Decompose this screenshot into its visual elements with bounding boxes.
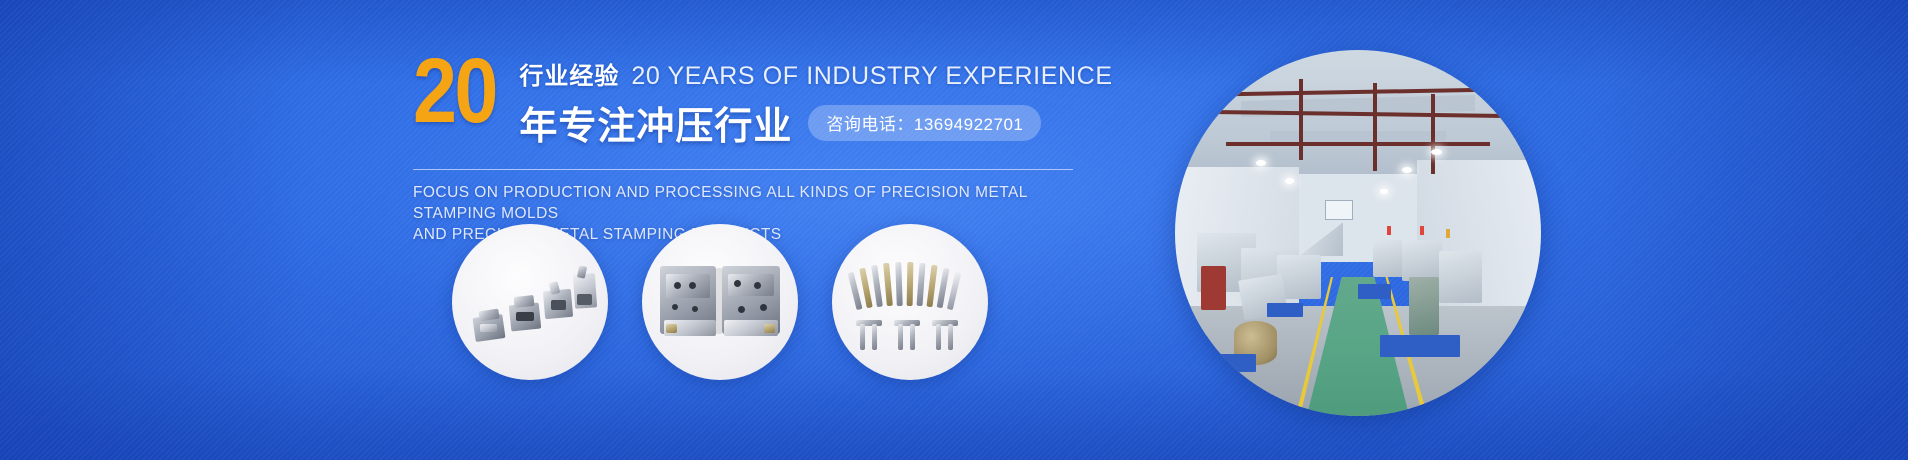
subtitle-line-1: FOCUS ON PRODUCTION AND PROCESSING ALL K… bbox=[413, 182, 1093, 224]
product-circle-metal-terminals[interactable] bbox=[832, 224, 988, 380]
headline-divider bbox=[413, 169, 1073, 170]
tel-badge[interactable]: 咨询电话：13694922701 bbox=[808, 105, 1041, 141]
cn-tagline-small: 行业经验 bbox=[519, 56, 619, 91]
years-number: 20 bbox=[413, 52, 496, 131]
cn-headline: 年专注冲压行业 bbox=[519, 95, 792, 150]
headline-row: 20 行业经验 20 YEARS OF INDUSTRY EXPERIENCE … bbox=[413, 52, 1093, 150]
headline-text-group: 行业经验 20 YEARS OF INDUSTRY EXPERIENCE 年专注… bbox=[519, 52, 1112, 150]
product-circle-stamping-die[interactable] bbox=[642, 224, 798, 380]
headline-block: 20 行业经验 20 YEARS OF INDUSTRY EXPERIENCE … bbox=[413, 52, 1093, 245]
product-circle-usb-connectors[interactable] bbox=[452, 224, 608, 380]
en-tagline: 20 YEARS OF INDUSTRY EXPERIENCE bbox=[631, 62, 1112, 91]
promo-banner: 20 行业经验 20 YEARS OF INDUSTRY EXPERIENCE … bbox=[0, 0, 1908, 460]
tagline-line: 行业经验 20 YEARS OF INDUSTRY EXPERIENCE bbox=[519, 56, 1112, 91]
headline-line: 年专注冲压行业 咨询电话：13694922701 bbox=[519, 95, 1112, 150]
factory-workshop-photo[interactable] bbox=[1175, 50, 1541, 416]
